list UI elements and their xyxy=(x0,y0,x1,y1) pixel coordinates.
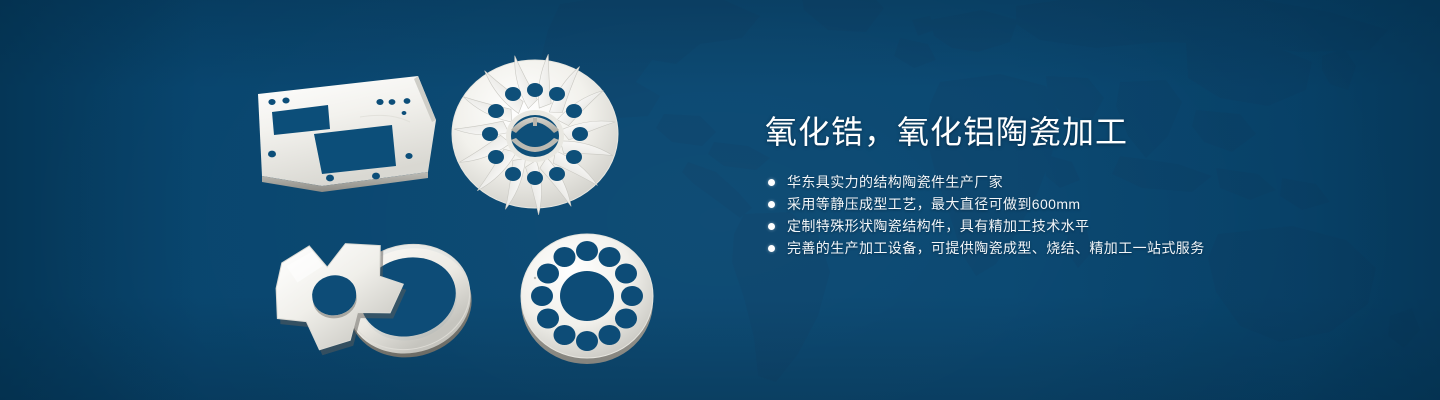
feature-text: 华东具实力的结构陶瓷件生产厂家 xyxy=(787,171,1003,193)
ceramic-cross-image xyxy=(248,222,498,367)
feature-text: 定制特殊形状陶瓷结构件，具有精加工技术水平 xyxy=(787,215,1089,237)
feature-text: 完善的生产加工设备，可提供陶瓷成型、烧结、精加工一站式服务 xyxy=(787,237,1205,259)
list-item: 定制特殊形状陶瓷结构件，具有精加工技术水平 xyxy=(768,215,1205,237)
bullet-dot-icon xyxy=(768,223,775,230)
bullet-dot-icon xyxy=(768,179,775,186)
banner-copy: 氧化锆，氧化铝陶瓷加工 华东具实力的结构陶瓷件生产厂家 采用等静压成型工艺，最大… xyxy=(765,0,1425,400)
promo-banner: 氧化锆，氧化铝陶瓷加工 华东具实力的结构陶瓷件生产厂家 采用等静压成型工艺，最大… xyxy=(0,0,1440,400)
ceramic-ring-image xyxy=(512,226,662,366)
list-item: 采用等静压成型工艺，最大直径可做到600mm xyxy=(768,193,1205,215)
ceramic-impeller-image xyxy=(450,46,620,221)
banner-feature-list: 华东具实力的结构陶瓷件生产厂家 采用等静压成型工艺，最大直径可做到600mm 定… xyxy=(768,171,1205,259)
bullet-dot-icon xyxy=(768,245,775,252)
product-photo-group xyxy=(0,0,720,400)
bullet-dot-icon xyxy=(768,201,775,208)
list-item: 华东具实力的结构陶瓷件生产厂家 xyxy=(768,171,1205,193)
ceramic-plate-image xyxy=(252,72,452,192)
list-item: 完善的生产加工设备，可提供陶瓷成型、烧结、精加工一站式服务 xyxy=(768,237,1205,259)
banner-headline: 氧化锆，氧化铝陶瓷加工 xyxy=(765,112,1128,152)
feature-text: 采用等静压成型工艺，最大直径可做到600mm xyxy=(787,193,1080,215)
